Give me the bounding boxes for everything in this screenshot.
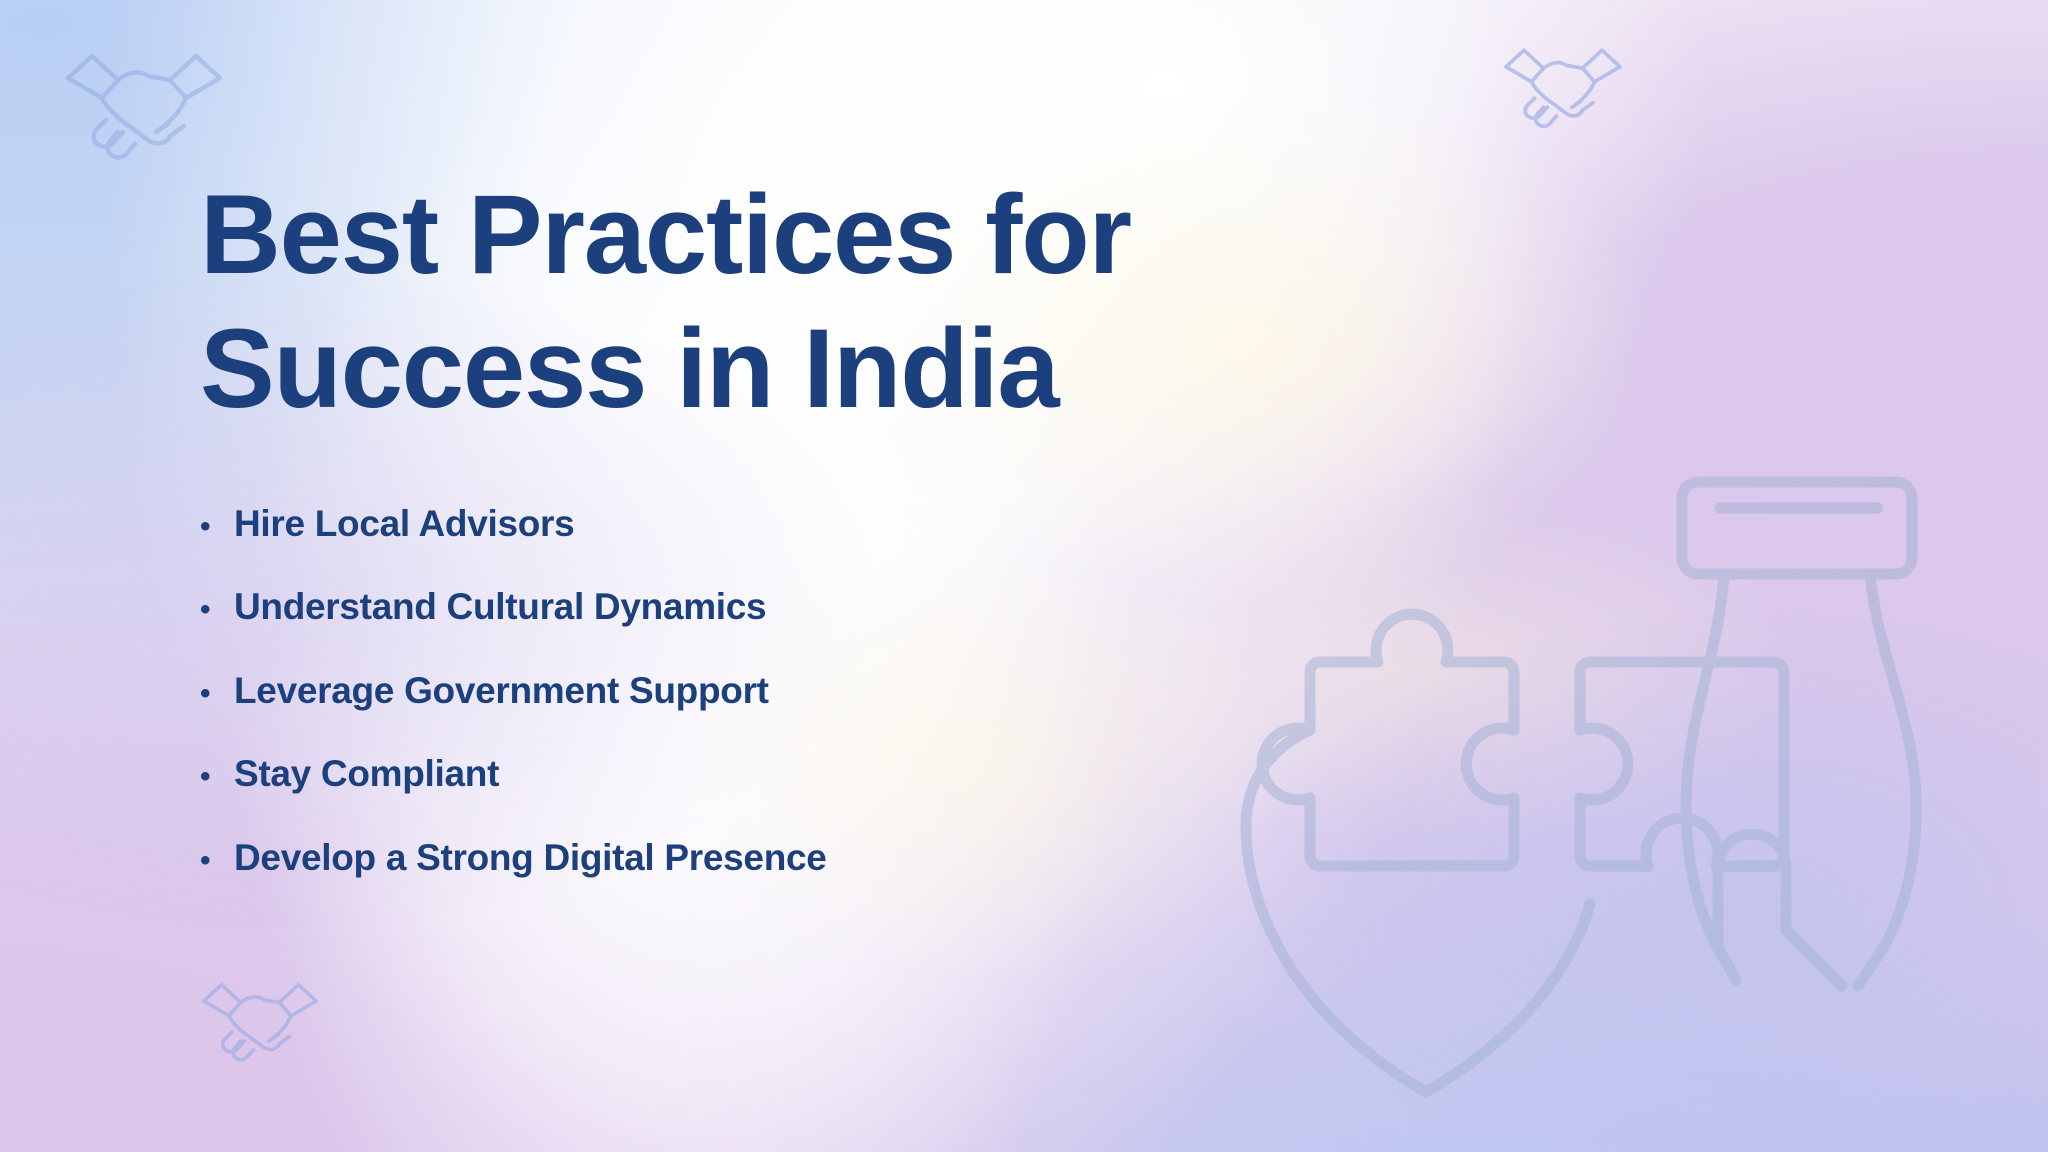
slide-content: Best Practices for Success in India • Hi… [200,168,1440,878]
bullet-marker-icon: • [200,762,234,792]
list-item: • Develop a Strong Digital Presence [200,837,1440,878]
list-item-label: Develop a Strong Digital Presence [234,837,827,878]
list-item-label: Hire Local Advisors [234,503,574,544]
page-title-line-1: Best Practices for [200,172,1131,297]
bullet-marker-icon: • [200,512,234,542]
handshake-icon-top-right [1488,32,1638,136]
page-title: Best Practices for Success in India [200,168,1380,437]
bullet-marker-icon: • [200,679,234,709]
list-item-label: Stay Compliant [234,753,499,794]
slide-canvas: Best Practices for Success in India • Hi… [0,0,2048,1152]
list-item-label: Leverage Government Support [234,670,769,711]
list-item: • Understand Cultural Dynamics [200,586,1440,627]
list-item-label: Understand Cultural Dynamics [234,586,766,627]
list-item: • Leverage Government Support [200,670,1440,711]
list-item: • Hire Local Advisors [200,503,1440,544]
handshake-hand-icon-large [1682,482,1916,986]
page-title-line-2: Success in India [200,306,1058,431]
handshake-icon-top-left [44,36,244,166]
puzzle-piece-icon-right [1580,662,1784,866]
list-item: • Stay Compliant [200,753,1440,794]
handshake-icon-bottom-left [186,968,334,1068]
bullet-marker-icon: • [200,595,234,625]
bullet-marker-icon: • [200,846,234,876]
best-practices-list: • Hire Local Advisors • Understand Cultu… [200,503,1440,878]
